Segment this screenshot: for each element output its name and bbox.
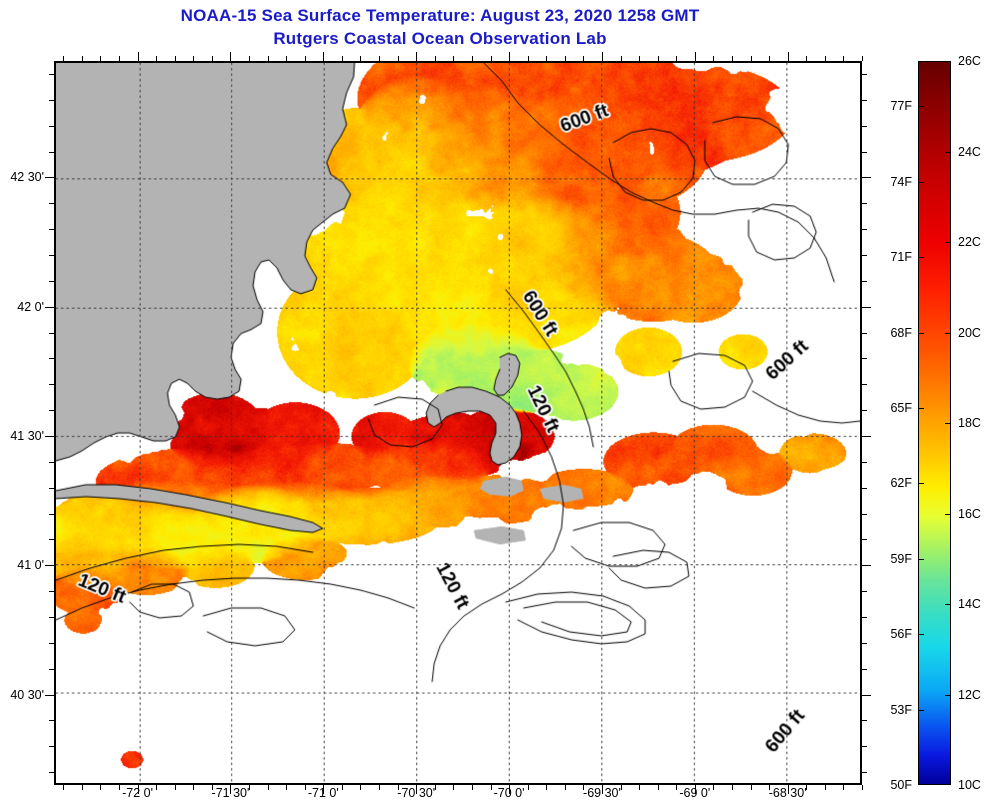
- x-tick-top: [453, 56, 454, 61]
- sst-raster-canvas: [56, 63, 860, 783]
- x-axis-label: -70 30': [397, 786, 435, 800]
- x-tick-top: [621, 56, 622, 61]
- y-tick-left: [49, 203, 54, 204]
- y-tick-left: [49, 539, 54, 540]
- y-tick-left: [49, 384, 54, 385]
- x-tick-top: [509, 52, 510, 61]
- y-tick-right: [862, 384, 867, 385]
- x-tick-bottom: [713, 785, 714, 790]
- colorbar-tick-right: [945, 152, 951, 153]
- x-tick-top: [193, 56, 194, 61]
- chart-title-block: NOAA-15 Sea Surface Temperature: August …: [0, 4, 880, 50]
- x-tick-top: [769, 56, 770, 61]
- x-tick-top: [546, 56, 547, 61]
- x-axis-label: -69 0': [679, 786, 710, 800]
- x-tick-top: [806, 56, 807, 61]
- colorbar-label-fahrenheit: 68F: [876, 326, 912, 340]
- x-axis-label: -71 0': [308, 786, 339, 800]
- y-axis-label: 41 30': [0, 429, 44, 443]
- y-tick-right: [862, 410, 867, 411]
- x-tick-top: [676, 56, 677, 61]
- y-tick-left: [45, 307, 54, 308]
- y-tick-left: [49, 772, 54, 773]
- y-axis-label: 41 0': [0, 558, 44, 572]
- x-tick-bottom: [676, 785, 677, 790]
- x-tick-bottom: [63, 785, 64, 790]
- y-tick-left: [49, 126, 54, 127]
- y-tick-right: [862, 436, 871, 437]
- y-tick-left: [49, 255, 54, 256]
- x-tick-top: [751, 56, 752, 61]
- y-tick-left: [49, 720, 54, 721]
- y-tick-right: [862, 100, 867, 101]
- colorbar-label-celsius: 12C: [958, 688, 981, 702]
- y-tick-right: [862, 203, 867, 204]
- y-tick-left: [49, 591, 54, 592]
- y-tick-left: [49, 488, 54, 489]
- x-tick-bottom: [100, 785, 101, 790]
- colorbar-label-fahrenheit: 71F: [876, 250, 912, 264]
- x-tick-bottom: [453, 785, 454, 790]
- x-axis-label: -68 30': [769, 786, 807, 800]
- y-tick-left: [49, 281, 54, 282]
- x-tick-bottom: [565, 785, 566, 790]
- colorbar-tick-left: [918, 408, 924, 409]
- y-tick-right: [862, 514, 867, 515]
- x-tick-top: [230, 52, 231, 61]
- y-tick-right: [862, 488, 867, 489]
- y-tick-left: [49, 152, 54, 153]
- colorbar-label-celsius: 18C: [958, 416, 981, 430]
- y-tick-left: [49, 74, 54, 75]
- x-axis-label: -72 0': [122, 786, 153, 800]
- colorbar-tick-left: [918, 333, 924, 334]
- y-tick-right: [862, 74, 867, 75]
- y-tick-right: [862, 307, 871, 308]
- x-tick-bottom: [751, 785, 752, 790]
- x-tick-top: [156, 56, 157, 61]
- x-tick-bottom: [843, 785, 844, 790]
- sst-map-plot-area: [54, 61, 862, 785]
- colorbar-tick-left: [918, 559, 924, 560]
- colorbar-label-celsius: 14C: [958, 597, 981, 611]
- colorbar-label-celsius: 10C: [958, 778, 981, 792]
- x-tick-top: [695, 52, 696, 61]
- colorbar-tick-right: [945, 242, 951, 243]
- x-tick-bottom: [862, 785, 863, 790]
- x-tick-bottom: [175, 785, 176, 790]
- colorbar-label-fahrenheit: 50F: [876, 778, 912, 792]
- y-tick-left: [49, 333, 54, 334]
- y-tick-right: [862, 565, 871, 566]
- y-tick-left: [49, 100, 54, 101]
- title-line-2: Rutgers Coastal Ocean Observation Lab: [0, 27, 880, 50]
- y-tick-right: [862, 772, 867, 773]
- x-tick-top: [100, 56, 101, 61]
- y-tick-right: [862, 669, 867, 670]
- y-axis-label: 42 30': [0, 170, 44, 184]
- x-tick-top: [528, 56, 529, 61]
- x-tick-bottom: [658, 785, 659, 790]
- x-tick-top: [658, 56, 659, 61]
- x-tick-bottom: [491, 785, 492, 790]
- y-tick-right: [862, 462, 867, 463]
- x-tick-bottom: [825, 785, 826, 790]
- x-tick-top: [416, 52, 417, 61]
- colorbar-tick-left: [918, 483, 924, 484]
- x-tick-bottom: [360, 785, 361, 790]
- x-tick-bottom: [82, 785, 83, 790]
- colorbar-label-celsius: 22C: [958, 235, 981, 249]
- x-tick-top: [212, 56, 213, 61]
- x-tick-top: [825, 56, 826, 61]
- y-tick-right: [862, 617, 867, 618]
- y-tick-right: [862, 177, 871, 178]
- x-tick-top: [305, 56, 306, 61]
- y-tick-right: [862, 695, 871, 696]
- colorbar-label-celsius: 24C: [958, 145, 981, 159]
- x-tick-top: [268, 56, 269, 61]
- x-tick-top: [286, 56, 287, 61]
- x-tick-bottom: [286, 785, 287, 790]
- y-axis-label: 42 0': [0, 300, 44, 314]
- x-tick-top: [602, 52, 603, 61]
- colorbar-tick-left: [918, 182, 924, 183]
- x-tick-bottom: [268, 785, 269, 790]
- y-axis-label: 40 30': [0, 688, 44, 702]
- colorbar-label-celsius: 26C: [958, 54, 981, 68]
- title-line-1: NOAA-15 Sea Surface Temperature: August …: [0, 4, 880, 27]
- y-tick-right: [862, 746, 867, 747]
- colorbar-tick-left: [918, 634, 924, 635]
- y-tick-left: [49, 229, 54, 230]
- y-tick-right: [862, 255, 867, 256]
- y-tick-right: [862, 643, 867, 644]
- x-tick-bottom: [732, 785, 733, 790]
- y-tick-right: [862, 152, 867, 153]
- x-tick-top: [175, 56, 176, 61]
- x-axis-label: -71 30': [212, 786, 250, 800]
- y-tick-left: [45, 436, 54, 437]
- x-tick-top: [82, 56, 83, 61]
- colorbar-tick-left: [918, 710, 924, 711]
- y-tick-right: [862, 126, 867, 127]
- colorbar-tick-left: [918, 106, 924, 107]
- y-tick-left: [45, 695, 54, 696]
- x-tick-bottom: [472, 785, 473, 790]
- colorbar-tick-right: [945, 604, 951, 605]
- colorbar-label-fahrenheit: 62F: [876, 476, 912, 490]
- y-tick-right: [862, 333, 867, 334]
- colorbar-label-fahrenheit: 56F: [876, 627, 912, 641]
- colorbar-label-fahrenheit: 65F: [876, 401, 912, 415]
- x-tick-top: [639, 56, 640, 61]
- x-tick-top: [713, 56, 714, 61]
- x-tick-bottom: [156, 785, 157, 790]
- x-tick-top: [788, 52, 789, 61]
- colorbar-tick-right: [945, 423, 951, 424]
- x-tick-top: [379, 56, 380, 61]
- x-tick-top: [342, 56, 343, 61]
- x-tick-bottom: [379, 785, 380, 790]
- x-tick-top: [360, 56, 361, 61]
- x-axis-label: -69 30': [583, 786, 621, 800]
- y-tick-left: [49, 746, 54, 747]
- x-tick-bottom: [546, 785, 547, 790]
- colorbar-label-fahrenheit: 74F: [876, 175, 912, 189]
- y-tick-right: [862, 720, 867, 721]
- y-tick-right: [862, 229, 867, 230]
- y-tick-left: [49, 514, 54, 515]
- x-tick-bottom: [119, 785, 120, 790]
- y-tick-left: [49, 669, 54, 670]
- x-tick-top: [843, 56, 844, 61]
- x-tick-top: [138, 52, 139, 61]
- colorbar-label-fahrenheit: 77F: [876, 99, 912, 113]
- y-tick-right: [862, 539, 867, 540]
- x-tick-top: [491, 56, 492, 61]
- x-tick-top: [323, 52, 324, 61]
- colorbar-tick-right: [945, 333, 951, 334]
- x-tick-top: [435, 56, 436, 61]
- y-tick-right: [862, 281, 867, 282]
- x-tick-bottom: [193, 785, 194, 790]
- colorbar-label-celsius: 16C: [958, 507, 981, 521]
- colorbar-tick-right: [945, 695, 951, 696]
- x-tick-top: [732, 56, 733, 61]
- y-tick-left: [45, 177, 54, 178]
- x-tick-top: [249, 56, 250, 61]
- x-tick-bottom: [639, 785, 640, 790]
- x-tick-bottom: [305, 785, 306, 790]
- x-tick-top: [398, 56, 399, 61]
- x-tick-top: [862, 56, 863, 61]
- colorbar-label-fahrenheit: 59F: [876, 552, 912, 566]
- y-tick-left: [45, 565, 54, 566]
- colorbar-tick-right: [945, 514, 951, 515]
- y-tick-left: [49, 462, 54, 463]
- y-tick-left: [49, 643, 54, 644]
- y-tick-left: [49, 358, 54, 359]
- y-tick-right: [862, 358, 867, 359]
- x-tick-top: [63, 56, 64, 61]
- y-tick-left: [49, 617, 54, 618]
- colorbar-label-celsius: 20C: [958, 326, 981, 340]
- x-tick-bottom: [528, 785, 529, 790]
- colorbar-tick-left: [918, 257, 924, 258]
- y-tick-right: [862, 591, 867, 592]
- y-tick-left: [49, 410, 54, 411]
- x-tick-top: [119, 56, 120, 61]
- colorbar-label-fahrenheit: 53F: [876, 703, 912, 717]
- x-tick-bottom: [342, 785, 343, 790]
- x-tick-top: [472, 56, 473, 61]
- x-tick-top: [565, 56, 566, 61]
- x-tick-top: [583, 56, 584, 61]
- x-axis-label: -70 0': [494, 786, 525, 800]
